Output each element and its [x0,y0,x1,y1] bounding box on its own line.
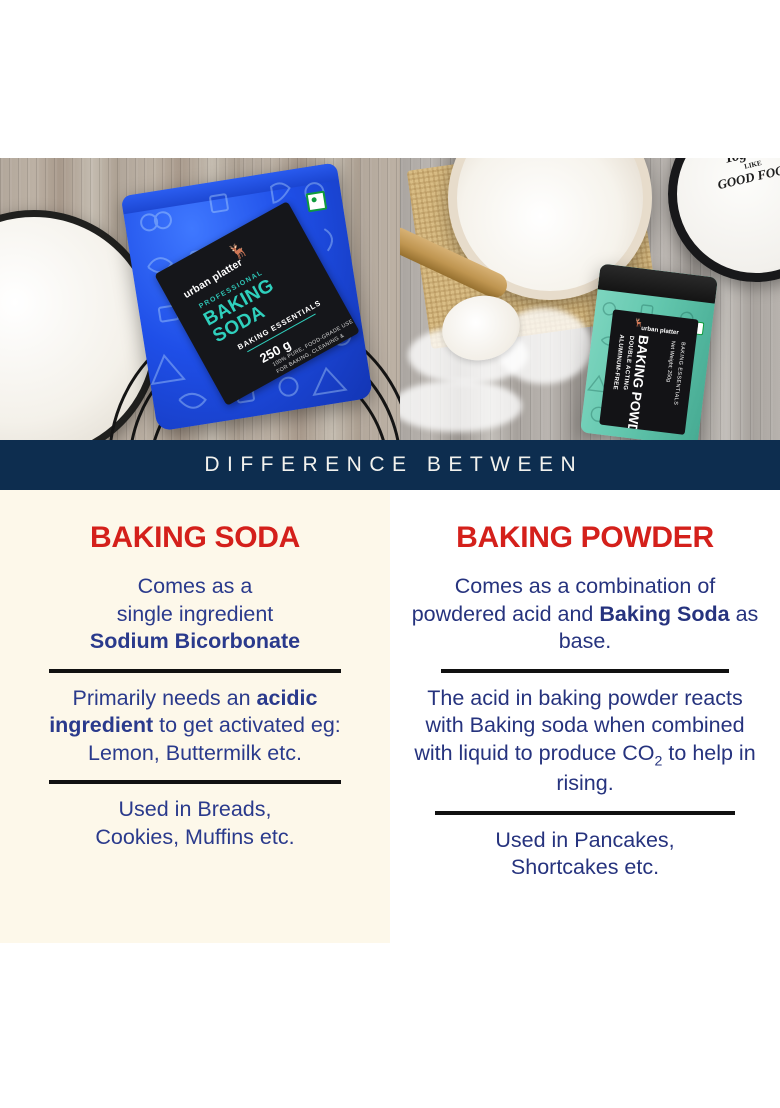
right-block-reaction: The acid in baking powder reacts with Ba… [406,685,764,798]
left-composition-line1: Comes as a [138,574,253,598]
vegetarian-mark-icon [306,191,328,213]
left-activation-before: Primarily needs an [73,686,257,710]
difference-banner: DIFFERENCE BETWEEN [0,440,780,490]
photo-right-half: 🦌 urban platter ALUMINUM-FREE DOUBLE ACT… [400,158,780,440]
left-divider-2 [49,780,341,784]
left-block-uses: Used in Breads, Cookies, Muffins etc. [22,796,368,851]
photo-left-half: 🦌 urban platter PROFESSIONAL BAKING SODA… [0,158,400,440]
baking-soda-pouch: 🦌 urban platter PROFESSIONAL BAKING SODA… [121,162,374,431]
banner-title: DIFFERENCE BETWEEN [197,453,583,477]
left-uses-line1: Used in Breads, [119,797,272,821]
column-baking-soda: BAKING SODA Comes as a single ingredient… [0,490,390,943]
column-heading-baking-soda: BAKING SODA [22,490,368,555]
left-divider-1 [49,669,341,673]
left-uses-line2: Cookies, Muffins etc. [95,825,294,849]
product-photo-band: 🦌 urban platter PROFESSIONAL BAKING SODA… [0,158,780,440]
plate-quote: NOTHING BRINGS PEOPLE Together LIKE GOOD… [689,158,780,197]
baking-powder-jar: 🦌 urban platter ALUMINUM-FREE DOUBLE ACT… [580,263,718,440]
column-baking-powder: BAKING POWDER Comes as a combination of … [390,490,780,943]
left-composition-line2: single ingredient [117,602,274,626]
right-uses-line2: Shortcakes etc. [511,855,659,879]
column-heading-baking-powder: BAKING POWDER [406,490,764,555]
right-divider-1 [441,669,729,673]
comparison-section: BAKING SODA Comes as a single ingredient… [0,490,780,943]
right-block-uses: Used in Pancakes, Shortcakes etc. [406,827,764,882]
product-net-weight: Net Weight: 250g [665,340,676,382]
right-block-composition: Comes as a combination of powdered acid … [406,573,764,656]
right-divider-2 [435,811,735,815]
left-composition-bold: Sodium Bicorbonate [90,629,300,653]
left-block-composition: Comes as a single ingredient Sodium Bico… [22,573,368,656]
right-uses-line1: Used in Pancakes, [495,828,674,852]
right-composition-bold: Baking Soda [599,602,729,626]
jar-front-label: 🦌 urban platter ALUMINUM-FREE DOUBLE ACT… [599,309,698,435]
left-block-activation: Primarily needs an acidic ingredient to … [22,685,368,768]
